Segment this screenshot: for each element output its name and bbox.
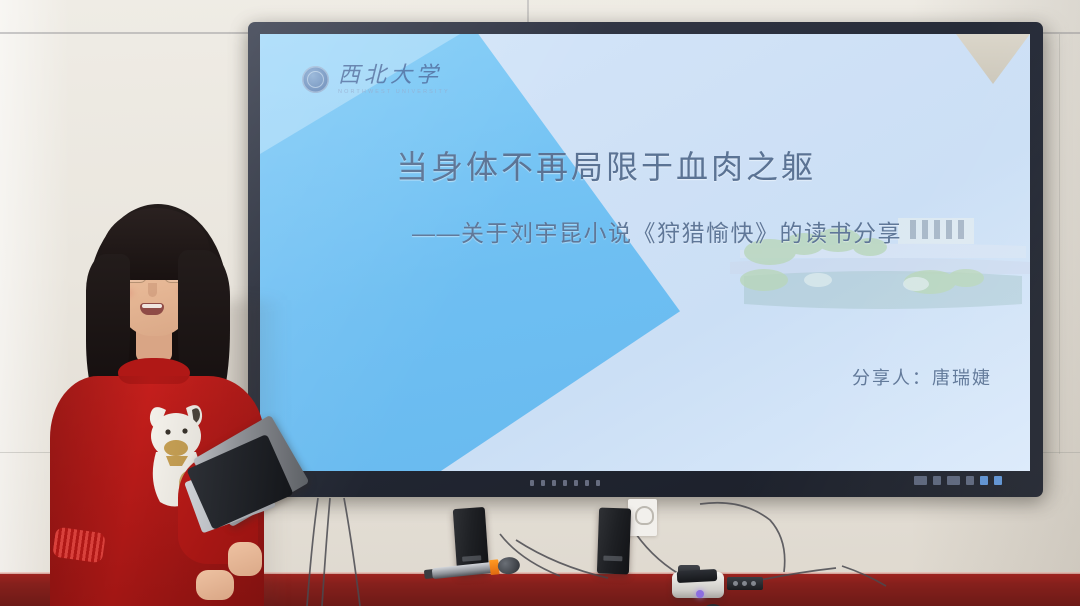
usb-dongle [677,569,718,583]
nose [148,283,157,297]
mouth [140,303,164,315]
left-hand [196,570,234,600]
classroom-scene: 西北大学 NORTHWEST UNIVERSITY [0,0,1080,606]
student-presenter [28,200,278,606]
remote-control[interactable] [727,577,763,590]
gooseneck-status-led [696,590,704,598]
right-hand [228,542,262,576]
wall-power-outlet [628,499,657,536]
speaker-right [597,507,631,574]
